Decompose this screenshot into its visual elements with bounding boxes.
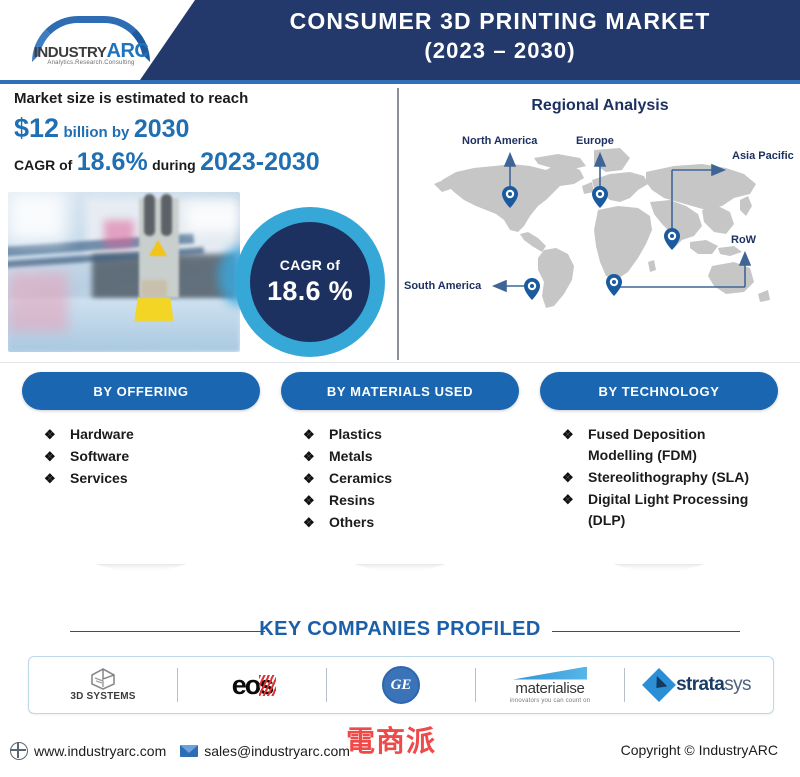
bullet-icon: ❖	[44, 424, 56, 445]
stats-intro: Market size is estimated to reach	[14, 90, 387, 107]
company-logo-ge[interactable]: GE	[327, 657, 475, 713]
title-rule-right	[552, 631, 740, 632]
stats-cagr-during: during	[152, 157, 196, 173]
list-item: ❖Hardware	[44, 424, 250, 445]
stats-cagr-line: CAGR of 18.6% during 2023-2030	[14, 148, 387, 177]
company-logo-eos[interactable]: eos	[178, 657, 326, 713]
vertical-divider	[397, 88, 399, 360]
region-label-europe: Europe	[576, 135, 614, 148]
photo-printed-object	[134, 297, 174, 322]
key-companies-title-row: KEY COMPANIES PROFILED	[0, 614, 800, 650]
title-line-2: (2023 – 2030)	[200, 36, 800, 66]
3d-systems-icon	[90, 668, 116, 690]
footer-website-label: www.industryarc.com	[34, 743, 166, 759]
segment-title-by-offering[interactable]: BY OFFERING	[22, 372, 260, 410]
logo-text-arc: ARC	[107, 40, 149, 62]
key-companies-section: KEY COMPANIES PROFILED 3D SYSTEMS eos	[0, 614, 800, 650]
region-label-south-america: South America	[404, 280, 481, 293]
materialise-wedge-icon	[513, 667, 587, 680]
company-logo-stratasys[interactable]: stratasys	[625, 657, 773, 713]
bullet-icon: ❖	[303, 490, 315, 511]
footer-contact-row: www.industryarc.com sales@industryarc.co…	[10, 742, 350, 760]
company-name-3d-systems: 3D SYSTEMS	[70, 691, 135, 702]
photo-head-rod-right	[161, 194, 172, 236]
segment-panel-by-materials-used: BY MATERIALS USED ❖Plastics ❖Metals ❖Cer…	[281, 372, 519, 572]
photo-nozzle	[141, 280, 167, 297]
segment-panel-by-technology: BY TECHNOLOGY ❖Fused Deposition Modellin…	[540, 372, 778, 572]
bullet-icon: ❖	[303, 468, 315, 489]
list-item: ❖Fused Deposition Modelling (FDM)	[562, 424, 768, 466]
stats-value-line: $12 billion by 2030	[14, 113, 387, 144]
company-name-stratasys-light: sys	[724, 674, 751, 695]
segment-list-by-offering: ❖Hardware ❖Software ❖Services	[44, 424, 250, 490]
regional-analysis-panel: Regional Analysis	[400, 90, 800, 360]
photo-highlight-left	[8, 192, 66, 242]
company-logo-strip: 3D SYSTEMS eos GE materialise innovators…	[28, 656, 774, 714]
header-underline	[0, 80, 800, 84]
bullet-icon: ❖	[562, 467, 574, 488]
company-tagline-materialise: innovators you can count on	[510, 698, 590, 704]
map-pin-south-america[interactable]	[524, 278, 540, 300]
list-item-label: Stereolithography (SLA)	[588, 469, 749, 485]
list-item: ❖Ceramics	[303, 468, 509, 489]
footer-email-label: sales@industryarc.com	[204, 743, 350, 759]
region-label-asia-pacific: Asia Pacific	[732, 150, 782, 163]
world-map: North America Europe Asia Pacific South …	[400, 122, 800, 358]
list-item-label: Others	[329, 514, 374, 530]
photo-warning-triangle	[149, 240, 167, 256]
cagr-badge-inner: CAGR of 18.6 %	[250, 222, 370, 342]
cagr-badge-value: 18.6 %	[267, 276, 353, 307]
title-line-1: CONSUMER 3D PRINTING MARKET	[200, 6, 800, 36]
photo-head-rod-left	[144, 194, 155, 236]
watermark: 電商派	[346, 718, 436, 760]
list-item: ❖Services	[44, 468, 250, 489]
company-name-stratasys-bold: strata	[676, 674, 724, 695]
photo-pink-bokeh	[8, 272, 68, 332]
list-item: ❖Software	[44, 446, 250, 467]
bullet-icon: ❖	[303, 512, 315, 533]
list-item: ❖Metals	[303, 446, 509, 467]
bullet-icon: ❖	[44, 446, 56, 467]
footer-copyright: Copyright © IndustryARC	[621, 742, 778, 758]
list-item-label: Hardware	[70, 426, 134, 442]
list-item-label: Metals	[329, 448, 373, 464]
eos-stripe-icon	[259, 675, 276, 696]
photo-highlight-right	[186, 202, 240, 232]
bullet-icon: ❖	[44, 468, 56, 489]
list-item: ❖Digital Light Processing (DLP)	[562, 489, 768, 531]
globe-icon	[10, 742, 28, 760]
stats-value-year: 2030	[134, 115, 190, 143]
stats-cagr-value: 18.6%	[77, 148, 148, 176]
footer-website[interactable]: www.industryarc.com	[10, 742, 166, 760]
list-item-label: Software	[70, 448, 129, 464]
map-pin-europe[interactable]	[592, 186, 608, 208]
bullet-icon: ❖	[303, 446, 315, 467]
list-item-label: Services	[70, 470, 128, 486]
stats-value-unit: billion by	[64, 124, 130, 141]
list-item-label: Ceramics	[329, 470, 392, 486]
segment-list-by-materials-used: ❖Plastics ❖Metals ❖Ceramics ❖Resins ❖Oth…	[303, 424, 509, 534]
stratasys-diamond-icon	[642, 668, 676, 702]
cagr-badge-label: CAGR of	[280, 257, 340, 273]
map-pin-row[interactable]	[606, 274, 622, 296]
horizontal-divider	[0, 362, 800, 363]
market-size-stats: Market size is estimated to reach $12 bi…	[12, 90, 387, 190]
segment-title-by-materials-used[interactable]: BY MATERIALS USED	[281, 372, 519, 410]
list-item-label: Digital Light Processing (DLP)	[588, 491, 748, 528]
photo-pink-bokeh-2	[104, 220, 134, 248]
cagr-badge: CAGR of 18.6 %	[235, 207, 385, 357]
page-title: CONSUMER 3D PRINTING MARKET (2023 – 2030…	[200, 6, 800, 66]
company-logo-materialise[interactable]: materialise innovators you can count on	[476, 657, 624, 713]
infographic-page: CONSUMER 3D PRINTING MARKET (2023 – 2030…	[0, 0, 800, 777]
map-pin-north-america[interactable]	[502, 186, 518, 208]
stats-cagr-label: CAGR of	[14, 157, 72, 173]
bullet-icon: ❖	[303, 424, 315, 445]
company-logo-3d-systems[interactable]: 3D SYSTEMS	[29, 657, 177, 713]
list-item-label: Resins	[329, 492, 375, 508]
header-bar: CONSUMER 3D PRINTING MARKET (2023 – 2030…	[0, 0, 800, 84]
map-pin-asia-pacific[interactable]	[664, 228, 680, 250]
logo-tagline: Analytics.Research.Consulting	[20, 60, 162, 66]
segment-title-by-technology[interactable]: BY TECHNOLOGY	[540, 372, 778, 410]
company-name-materialise: materialise	[515, 681, 584, 696]
list-item: ❖Plastics	[303, 424, 509, 445]
list-item: ❖Stereolithography (SLA)	[562, 467, 768, 488]
stats-cagr-period: 2023-2030	[200, 148, 320, 176]
footer-email[interactable]: sales@industryarc.com	[180, 743, 350, 759]
list-item-label: Fused Deposition Modelling (FDM)	[588, 426, 705, 463]
bullet-icon: ❖	[562, 424, 574, 445]
3d-printer-photo	[8, 192, 240, 352]
segment-panel-by-offering: BY OFFERING ❖Hardware ❖Software ❖Service…	[22, 372, 260, 572]
envelope-icon	[180, 745, 198, 757]
list-item-label: Plastics	[329, 426, 382, 442]
regional-analysis-title: Regional Analysis	[400, 97, 800, 115]
list-item: ❖Resins	[303, 490, 509, 511]
industryarc-logo: INDUSTRYARC Analytics.Research.Consultin…	[14, 14, 164, 70]
segment-list-by-technology: ❖Fused Deposition Modelling (FDM) ❖Stere…	[562, 424, 768, 532]
list-item: ❖Others	[303, 512, 509, 533]
key-companies-title: KEY COMPANIES PROFILED	[0, 618, 800, 641]
region-label-north-america: North America	[462, 135, 537, 148]
logo-text-industry: INDUSTRY	[34, 44, 107, 61]
bullet-icon: ❖	[562, 489, 574, 510]
stats-value: $12	[14, 113, 59, 143]
region-label-row: RoW	[731, 234, 756, 247]
company-name-ge: GE	[382, 666, 420, 704]
